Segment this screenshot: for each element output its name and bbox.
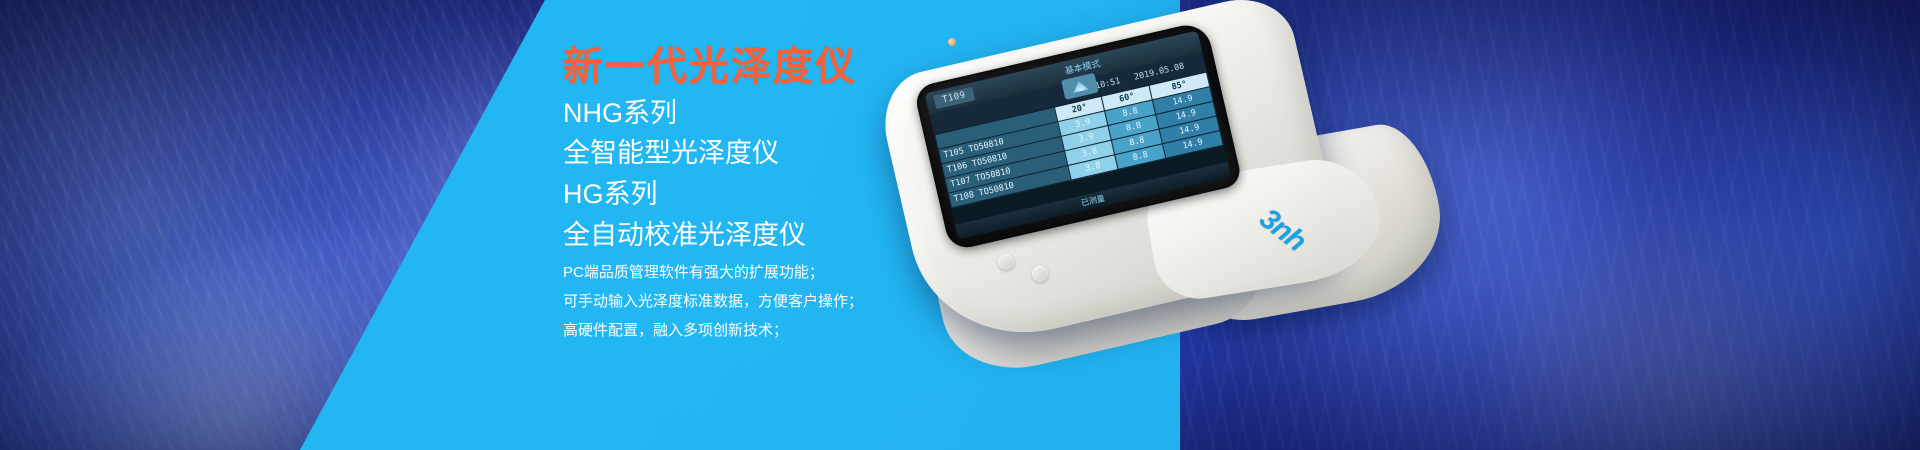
- feature-line-1: PC端品质管理软件有强大的扩展功能；: [563, 265, 824, 280]
- subtitle-line-4: 全自动校准光泽度仪: [563, 222, 806, 249]
- feature-line-3: 高硬件配置，融入多项创新技术；: [563, 323, 788, 338]
- status-led: [947, 37, 957, 47]
- subtitle-line-2: 全智能型光泽度仪: [563, 140, 779, 167]
- screen-time: 10:51: [1094, 76, 1121, 92]
- page-title: 新一代光泽度仪: [563, 47, 857, 87]
- gloss-meter-device: T109 基本模式 10:51 2019.05.08 20°60°85°T105…: [880, 18, 1440, 418]
- feature-line-2: 可手动输入光泽度标准数据，方便客户操作；: [563, 294, 863, 309]
- subtitle-line-1: NHG系列: [563, 100, 677, 127]
- screen-mode-title: 基本模式: [1064, 56, 1102, 77]
- product-banner: 新一代光泽度仪 NHG系列 全智能型光泽度仪 HG系列 全自动校准光泽度仪 PC…: [0, 0, 1920, 450]
- subtitle-line-3: HG系列: [563, 181, 658, 208]
